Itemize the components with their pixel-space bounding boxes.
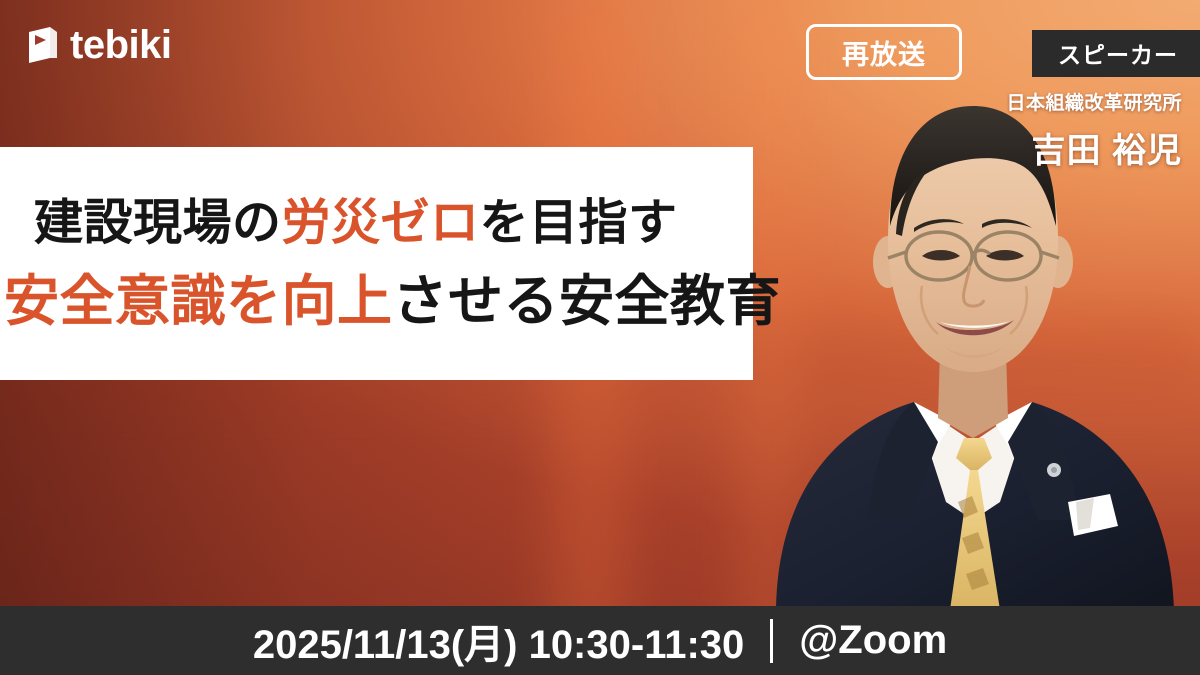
title-line-1-segment-0: 建設現場の bbox=[34, 196, 282, 250]
speaker-info: スピーカー 日本組織改革研究所 吉田 裕児 bbox=[1006, 30, 1200, 172]
rebroadcast-badge[interactable]: 再放送 bbox=[806, 24, 962, 80]
footer-separator bbox=[770, 619, 773, 663]
speaker-company: 日本組織改革研究所 bbox=[1006, 88, 1200, 115]
rebroadcast-label: 再放送 bbox=[842, 33, 926, 72]
tebiki-logo[interactable]: tebiki bbox=[26, 25, 171, 65]
title-card: 建設現場の労災ゼロを目指す 安全意識を向上させる安全教育 bbox=[0, 147, 753, 380]
tebiki-wordmark: tebiki bbox=[70, 25, 171, 65]
title-line-2: 安全意識を向上させる安全教育 bbox=[0, 274, 753, 329]
speaker-name: 吉田 裕児 bbox=[1006, 123, 1200, 172]
event-platform: @Zoom bbox=[799, 618, 947, 663]
title-line-2-segment-1: させる安全教育 bbox=[393, 270, 782, 332]
tebiki-book-play-icon bbox=[26, 26, 60, 64]
event-datetime: 2025/11/13(月) 10:30-11:30 bbox=[253, 612, 744, 670]
title-line-2-segment-0: 安全意識を向上 bbox=[4, 270, 393, 332]
webinar-banner: tebiki 再放送 スピーカー 日本組織改革研究所 吉田 裕児 建設現場の労災… bbox=[0, 0, 1200, 675]
title-line-1-segment-1: 労災ゼロ bbox=[282, 196, 480, 250]
event-footer-bar: 2025/11/13(月) 10:30-11:30 @Zoom bbox=[0, 606, 1200, 675]
speaker-badge: スピーカー bbox=[1032, 30, 1200, 77]
title-line-1-segment-2: を目指す bbox=[480, 196, 678, 250]
title-line-1: 建設現場の労災ゼロを目指す bbox=[0, 199, 753, 248]
